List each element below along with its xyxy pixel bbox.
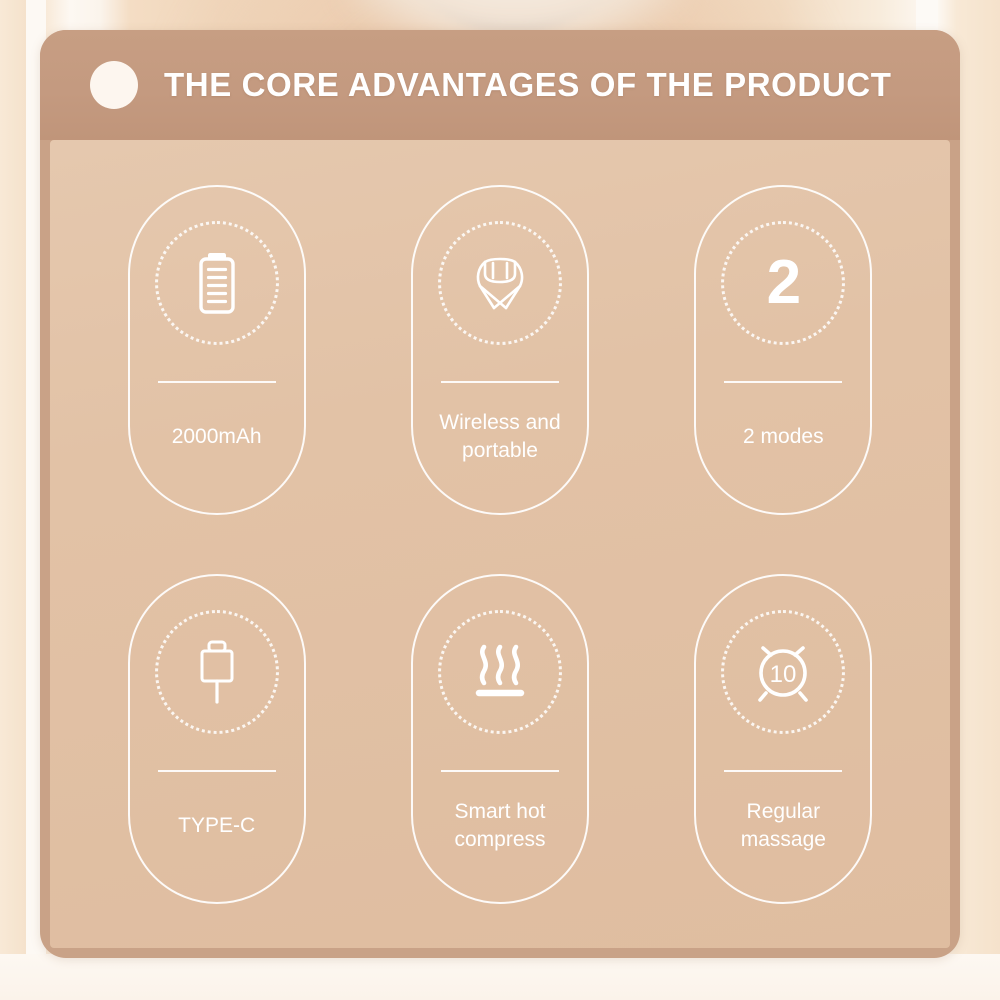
feature-label: 2000mAh (142, 423, 292, 451)
feature-label: TYPE-C (142, 812, 292, 840)
feature-card-modes[interactable]: 2 2 modes (694, 185, 872, 515)
core-advantages-panel: THE CORE ADVANTAGES OF THE PRODUCT (40, 30, 960, 958)
feature-label: 2 modes (708, 423, 858, 451)
card-divider (724, 770, 842, 772)
heat-steam-icon (438, 610, 562, 734)
page-title: THE CORE ADVANTAGES OF THE PRODUCT (164, 66, 891, 104)
card-divider (724, 381, 842, 383)
feature-card-wireless[interactable]: Wireless andportable (411, 185, 589, 515)
feature-card-type-c[interactable]: TYPE-C (128, 574, 306, 904)
card-divider (441, 381, 559, 383)
circle-bullet-icon (90, 61, 138, 109)
number-2-icon: 2 (721, 221, 845, 345)
feature-label: Regularmassage (708, 798, 858, 855)
panel-body: 2000mAh Wireless (50, 140, 950, 948)
backdrop-left-beige-strip (0, 0, 26, 1000)
feature-label: Wireless andportable (425, 409, 575, 466)
feature-card-regular-massage[interactable]: 10 Regularmassage (694, 574, 872, 904)
usb-type-c-plug-icon (155, 610, 279, 734)
card-divider (158, 381, 276, 383)
backdrop-bottom-band (0, 954, 1000, 1000)
card-divider (441, 770, 559, 772)
feature-card-hot-compress[interactable]: Smart hotcompress (411, 574, 589, 904)
feature-label: Smart hotcompress (425, 798, 575, 855)
feature-card-battery[interactable]: 2000mAh (128, 185, 306, 515)
alarm-clock-number: 10 (770, 661, 797, 688)
number-2-glyph: 2 (767, 252, 800, 314)
panel-header: THE CORE ADVANTAGES OF THE PRODUCT (40, 30, 960, 140)
battery-icon (155, 221, 279, 345)
card-divider (158, 770, 276, 772)
neck-massager-icon (438, 221, 562, 345)
feature-grid: 2000mAh Wireless (50, 140, 950, 948)
alarm-clock-icon: 10 (721, 610, 845, 734)
